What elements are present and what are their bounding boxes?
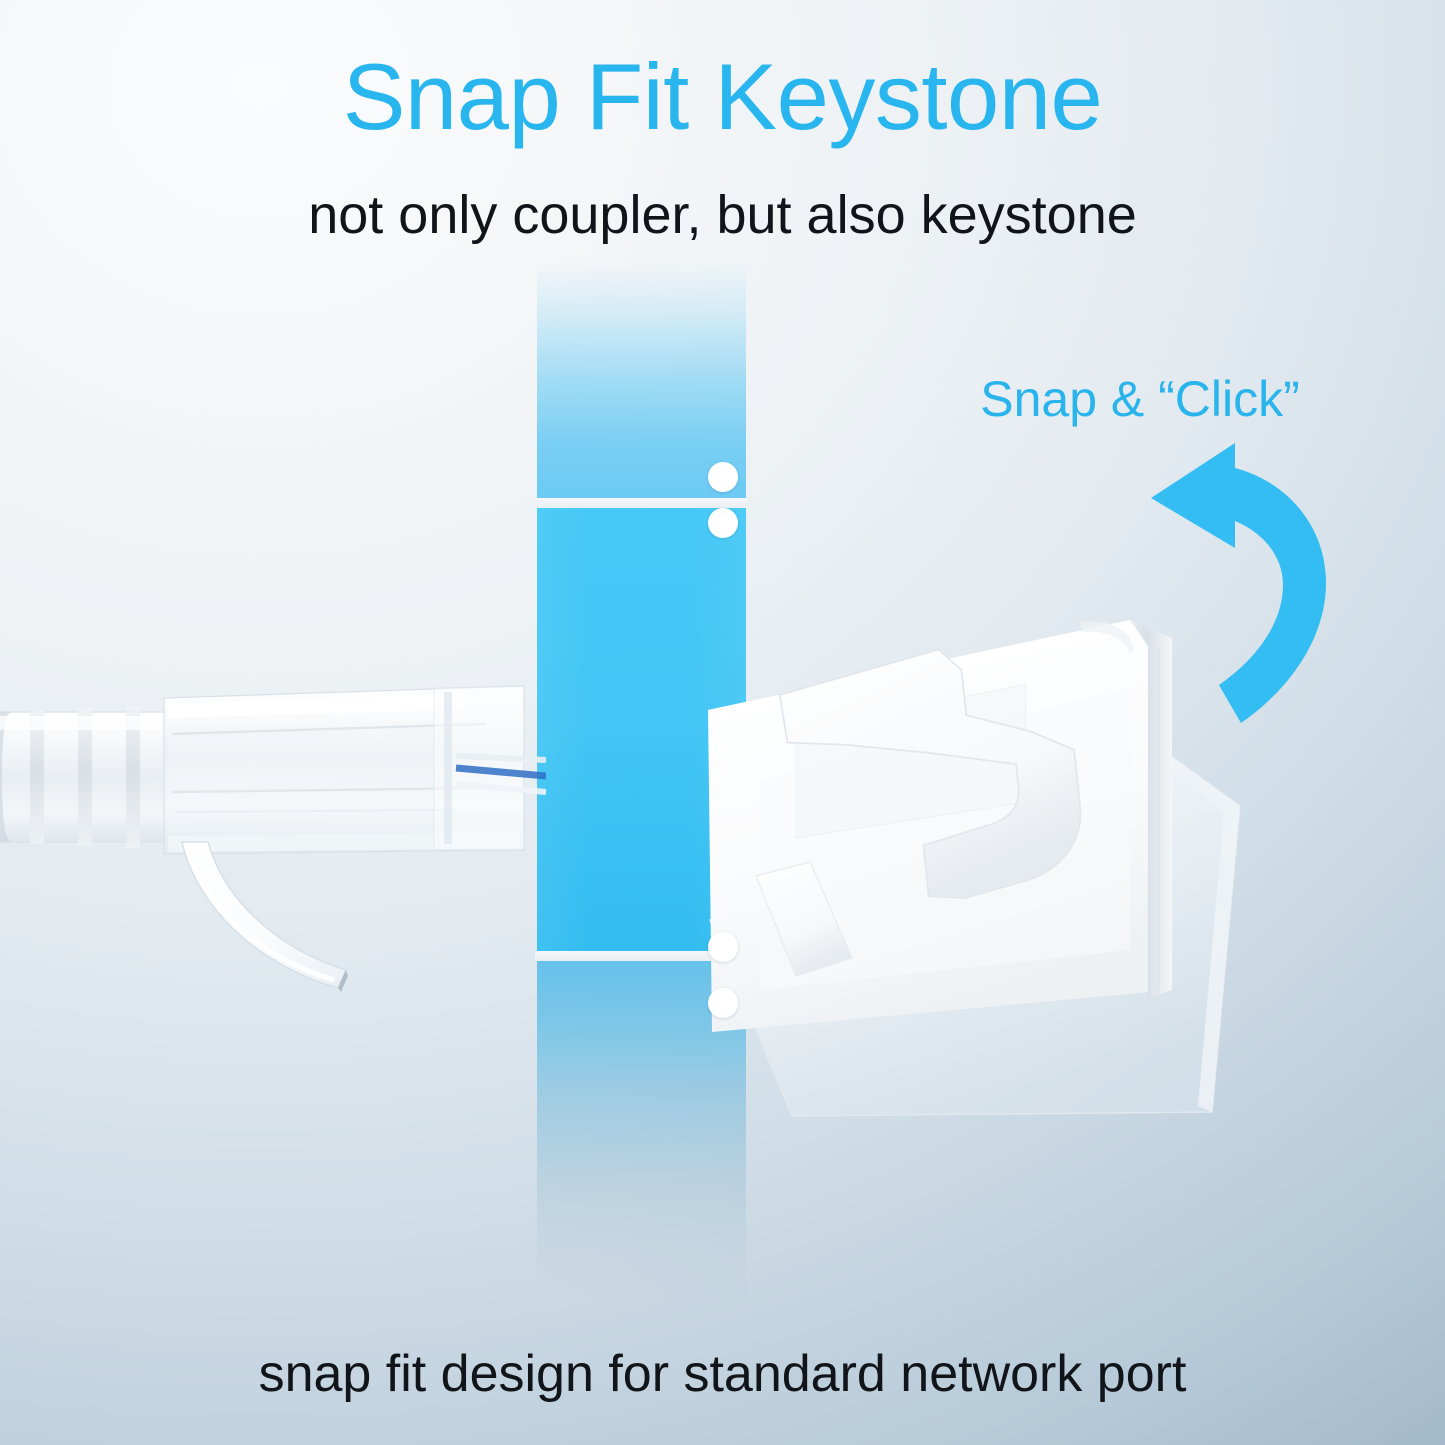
panel-segment-top-fade [537,262,746,498]
poster-canvas: Snap Fit Keystone not only coupler, but … [0,0,1445,1445]
snap-dot-top-upper [708,462,738,492]
panel-gap-upper [535,498,748,508]
snap-dot-bottom-upper [708,932,738,962]
snap-click-callout: Snap & “Click” [930,372,1350,427]
page-title: Snap Fit Keystone [0,46,1445,148]
rj45-snap-latch [182,842,348,992]
rj45-strain-relief-boot [0,706,166,848]
keystone-jack-faceplate [700,520,1260,1130]
snap-dot-top-lower [708,508,738,538]
snap-dot-bottom-lower [708,988,738,1018]
rj45-transparent-plug [0,672,546,1002]
page-subtitle: not only coupler, but also keystone [0,186,1445,245]
page-footnote: snap fit design for standard network por… [0,1346,1445,1403]
